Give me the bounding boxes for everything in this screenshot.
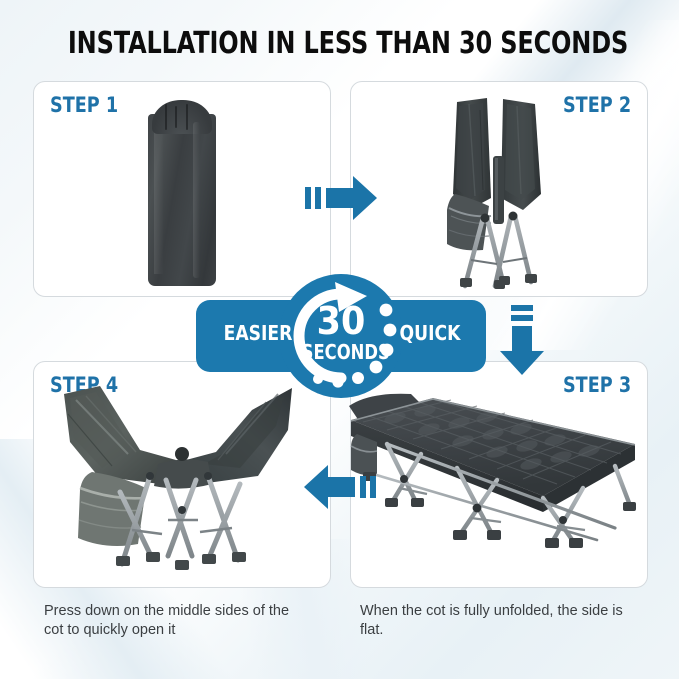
arrow-right-icon xyxy=(303,170,379,226)
step-panel-2: STEP 2 xyxy=(350,81,648,297)
badge-easier-text: EASIER xyxy=(217,321,300,345)
arrow-step1-to-step2 xyxy=(303,170,379,226)
caption-step-3: When the cot is fully unfolded, the side… xyxy=(360,602,650,640)
folded-cot-svg xyxy=(425,90,573,290)
arrow-step2-to-step3 xyxy=(494,303,550,377)
step-2-label: STEP 2 xyxy=(563,93,631,117)
step-panel-1: STEP 1 xyxy=(33,81,331,297)
caption-step-4: Press down on the middle sides of the co… xyxy=(44,602,304,640)
unfolded-cot-svg xyxy=(347,384,647,560)
carry-bag-cinch-fold-3 xyxy=(186,104,188,130)
folded-cot-illustration xyxy=(425,90,573,290)
carry-bag-drawstring-top xyxy=(152,100,212,134)
badge-number-text: 30 xyxy=(304,302,378,340)
arrow-left-icon xyxy=(298,458,378,516)
badge-quick-text: QUICK xyxy=(389,321,472,345)
step-1-label: STEP 1 xyxy=(50,93,118,117)
page-title: INSTALLATION IN LESS THAN 30 SECONDS xyxy=(68,26,611,61)
thirty-seconds-badge: EASIER QUICK 30 SECONDS xyxy=(196,274,486,398)
arrow-step3-to-step4 xyxy=(298,458,378,516)
carry-bag-highlight xyxy=(193,122,200,278)
carry-bag-cinch-fold-2 xyxy=(175,106,177,128)
unfolded-cot-illustration xyxy=(347,384,647,560)
half-open-cot-svg xyxy=(40,380,328,570)
carry-bag-body xyxy=(148,114,216,286)
arrow-down-icon xyxy=(494,303,550,377)
carry-bag-illustration xyxy=(139,96,225,288)
carry-bag-cinch-fold-1 xyxy=(165,104,167,130)
half-open-cot-illustration xyxy=(40,380,328,570)
badge-unit-text: SECONDS xyxy=(302,342,381,362)
